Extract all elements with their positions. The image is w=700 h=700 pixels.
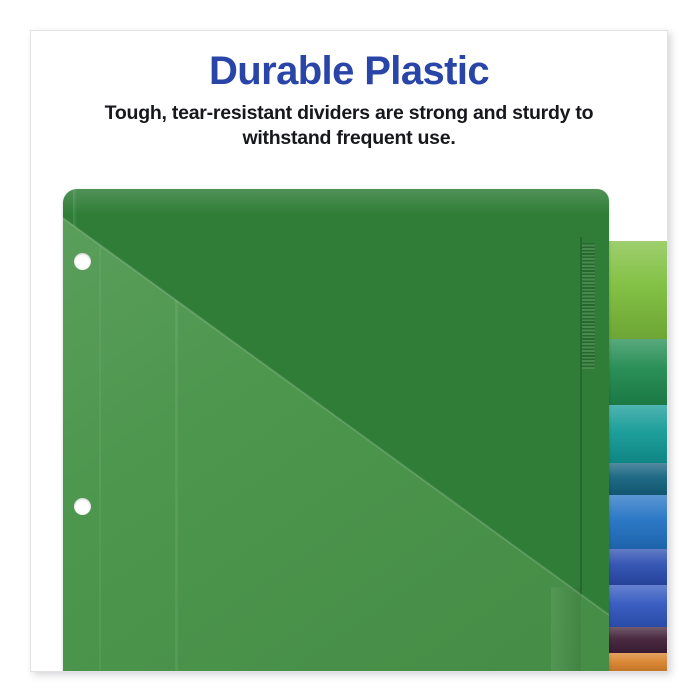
product-photo [31, 31, 668, 672]
divider-top-sheen [63, 189, 609, 215]
binder-hole-top [74, 253, 91, 270]
divider-ribbed-texture-strip [582, 243, 595, 369]
pocket-highlight-band-left [99, 189, 101, 672]
binder-hole-bottom [74, 498, 91, 515]
screenshot-root: Durable Plastic Tough, tear-resistant di… [0, 0, 700, 700]
pocket-right-fold [551, 587, 581, 672]
product-card: Durable Plastic Tough, tear-resistant di… [30, 30, 668, 672]
